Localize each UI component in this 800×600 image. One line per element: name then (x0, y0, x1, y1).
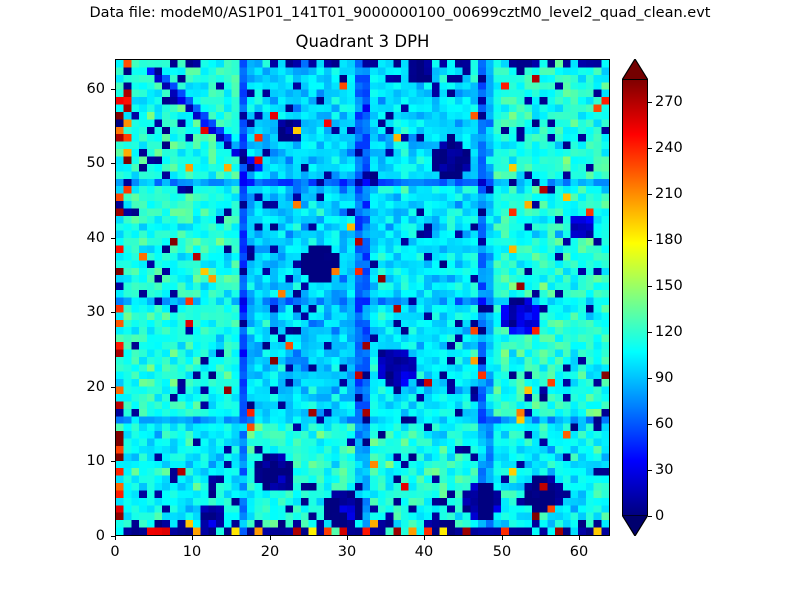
y-axis-tick (111, 312, 115, 313)
figure-suptitle: Data file: modeM0/AS1P01_141T01_90000001… (0, 5, 800, 21)
x-axis-tick-label: 60 (570, 544, 588, 560)
colorbar-tick-label: 30 (655, 462, 673, 478)
x-axis-tick-label: 30 (338, 544, 356, 560)
y-axis-tick-label: 40 (57, 230, 105, 246)
colorbar-min-extend-arrow-icon (622, 515, 648, 536)
y-axis-tick (111, 536, 115, 537)
x-axis-tick (347, 536, 348, 540)
y-axis-tick-label: 20 (57, 379, 105, 395)
x-axis-tick-label: 20 (261, 544, 279, 560)
colorbar-tick (648, 516, 652, 517)
y-axis-tick-label: 60 (57, 81, 105, 97)
y-axis-tick-label: 50 (57, 155, 105, 171)
y-axis-tick (111, 461, 115, 462)
x-axis-tick (192, 536, 193, 540)
y-axis-tick-label: 0 (57, 528, 105, 544)
figure-canvas: Data file: modeM0/AS1P01_141T01_90000001… (0, 0, 800, 600)
y-axis-tick (111, 238, 115, 239)
colorbar-gradient (623, 80, 647, 515)
y-axis-tick (111, 163, 115, 164)
heatmap-plot-area[interactable] (115, 59, 610, 536)
colorbar-tick (648, 470, 652, 471)
colorbar[interactable]: 0306090120150180210240270 (622, 59, 648, 536)
y-axis-tick (111, 387, 115, 388)
x-axis-tick (115, 536, 116, 540)
x-axis-tick (424, 536, 425, 540)
y-axis-tick-label: 30 (57, 304, 105, 320)
colorbar-tick-label: 180 (655, 232, 683, 248)
colorbar-tick (648, 194, 652, 195)
x-axis-tick-label: 10 (183, 544, 201, 560)
x-axis-tick-label: 50 (493, 544, 511, 560)
heatmap-image (116, 60, 609, 535)
colorbar-max-extend-arrow-icon (622, 59, 648, 80)
colorbar-tick (648, 286, 652, 287)
colorbar-tick-label: 210 (655, 186, 683, 202)
x-axis-tick-label: 40 (415, 544, 433, 560)
colorbar-tick-label: 120 (655, 324, 683, 340)
colorbar-tick (648, 102, 652, 103)
x-axis-tick (270, 536, 271, 540)
colorbar-tick (648, 332, 652, 333)
x-axis-tick (502, 536, 503, 540)
x-axis-tick-label: 0 (110, 544, 119, 560)
colorbar-gradient-body (622, 79, 648, 516)
colorbar-tick-label: 240 (655, 140, 683, 156)
colorbar-tick-label: 270 (655, 94, 683, 110)
axes-title: Quadrant 3 DPH (115, 32, 610, 51)
x-axis-tick (579, 536, 580, 540)
colorbar-tick (648, 148, 652, 149)
colorbar-tick-label: 150 (655, 278, 683, 294)
colorbar-tick (648, 378, 652, 379)
colorbar-tick-label: 60 (655, 416, 673, 432)
colorbar-tick-label: 90 (655, 370, 673, 386)
y-axis-tick-label: 10 (57, 453, 105, 469)
y-axis-tick (111, 89, 115, 90)
colorbar-tick-label: 0 (655, 508, 664, 524)
colorbar-tick (648, 424, 652, 425)
colorbar-tick (648, 240, 652, 241)
